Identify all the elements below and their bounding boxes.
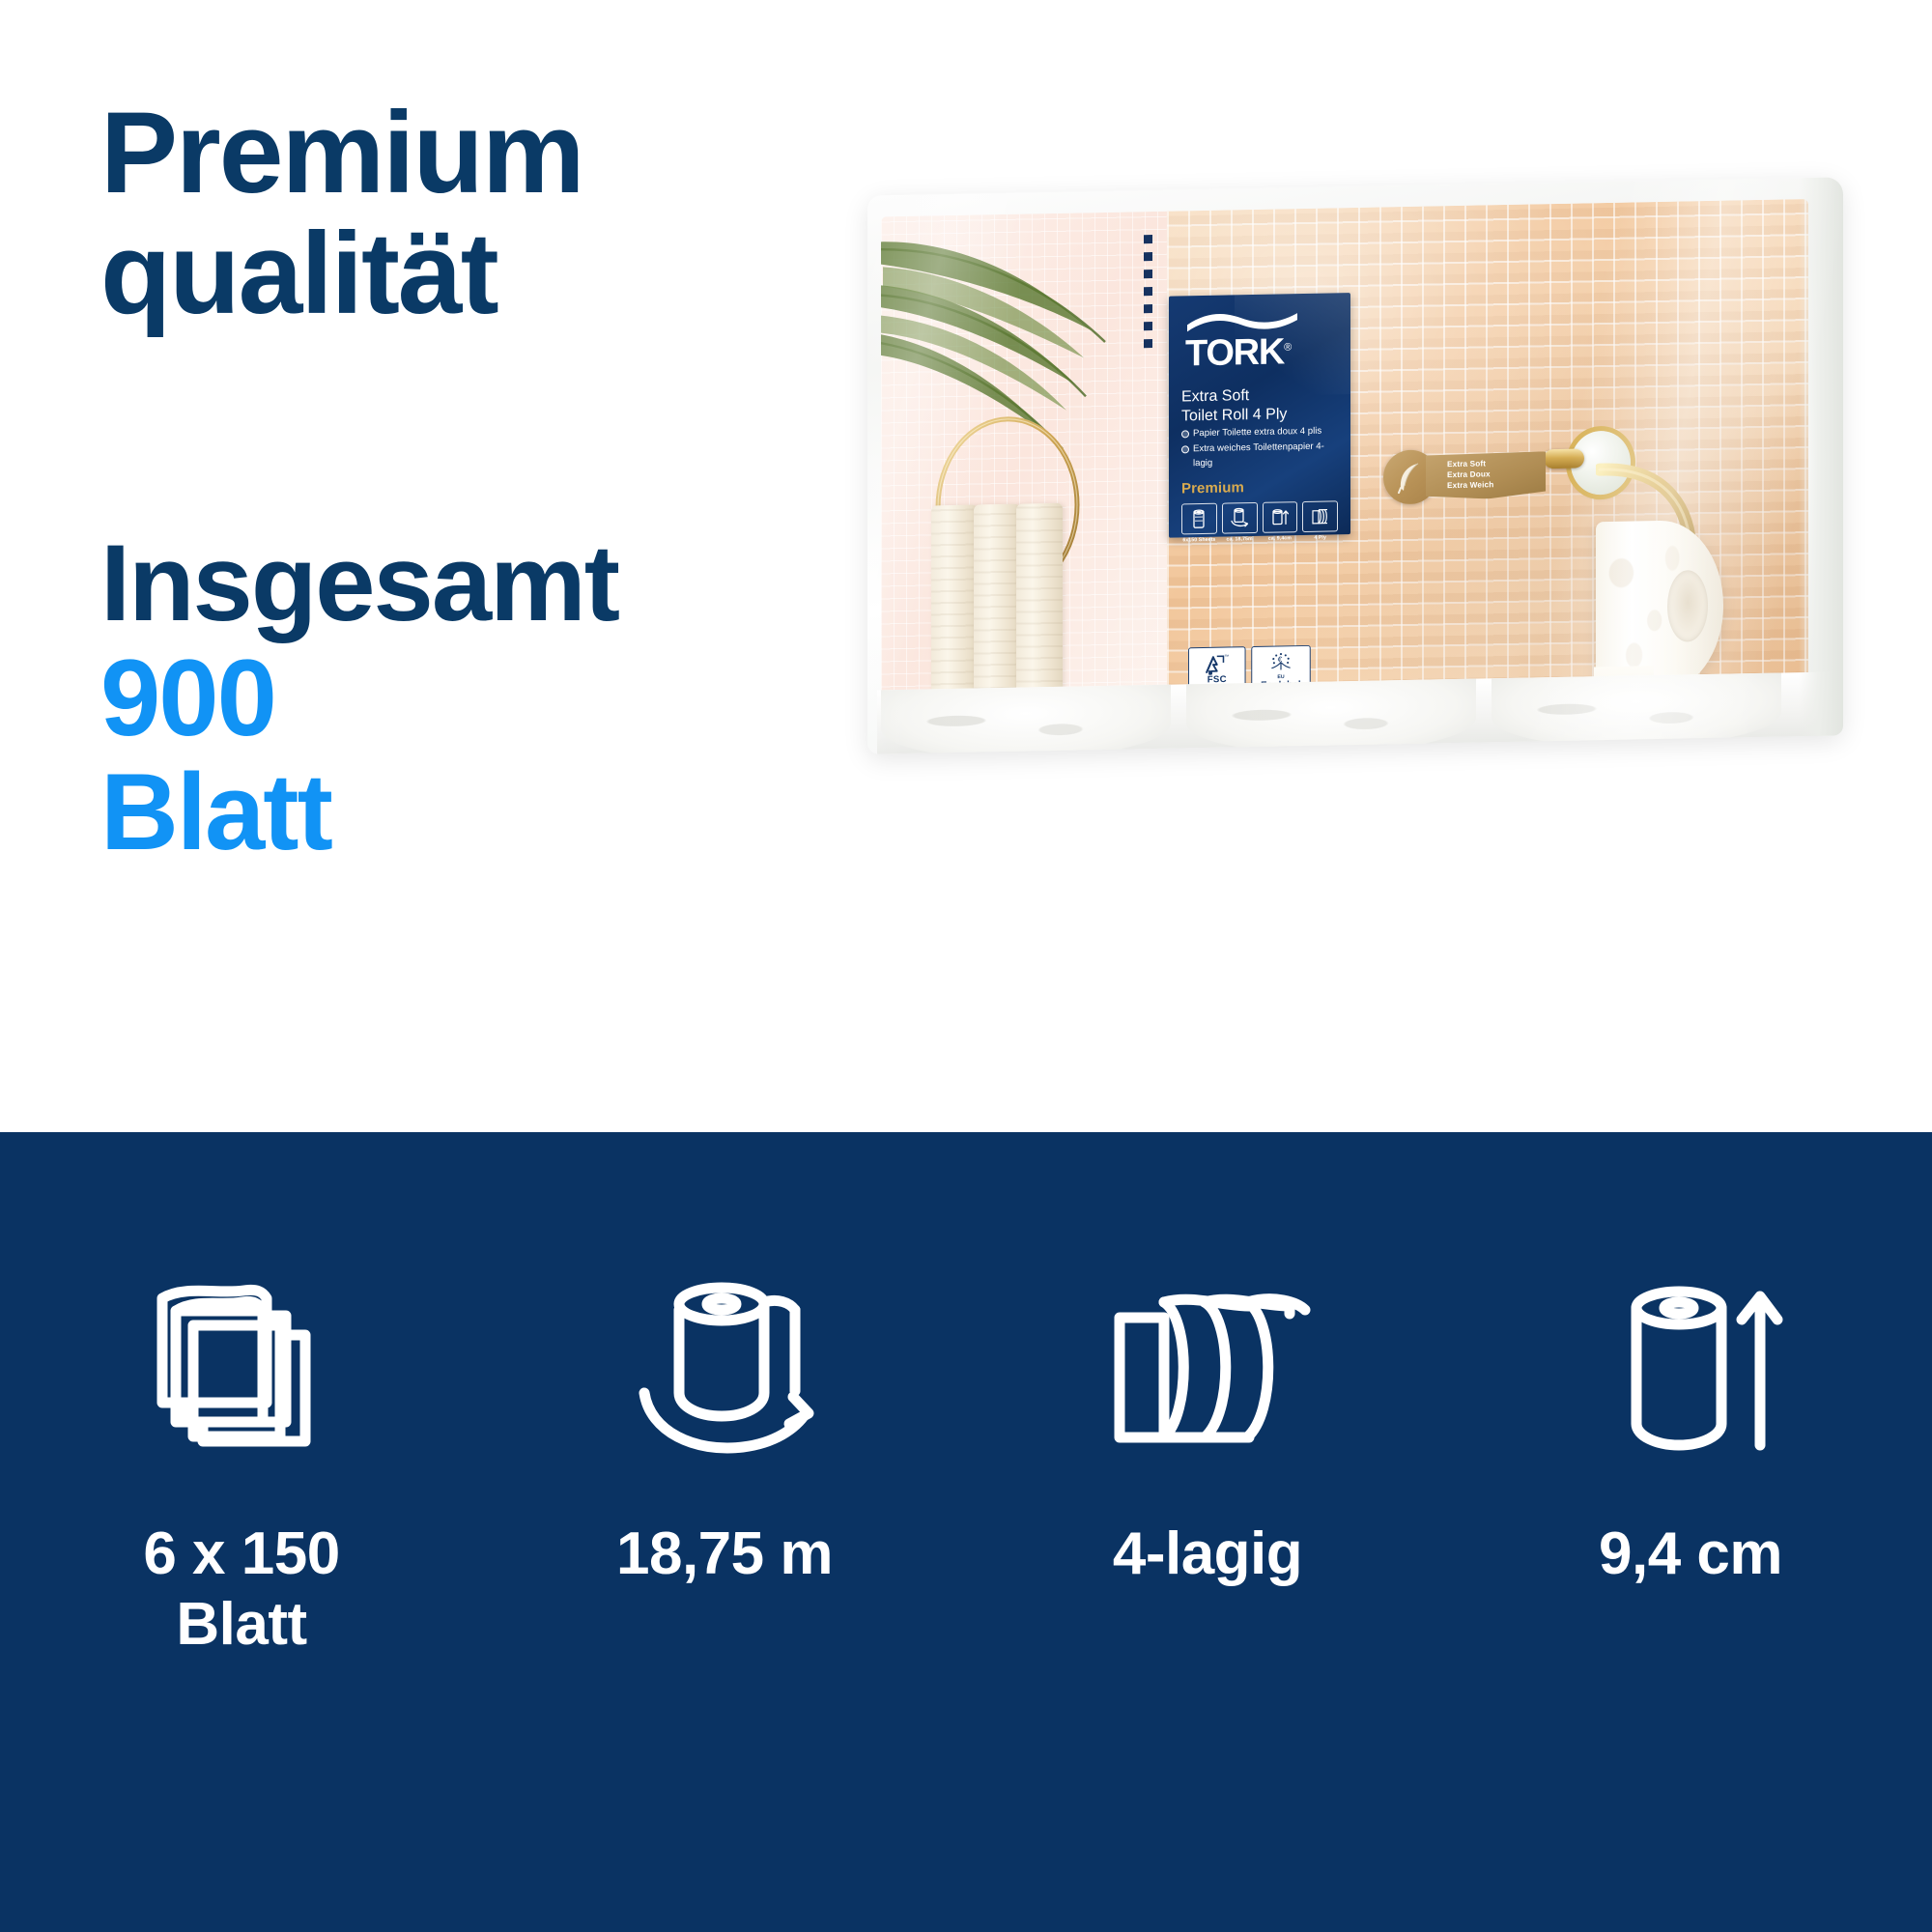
- eu-ecolabel-flower-icon: €: [1257, 650, 1305, 675]
- feature-label-plies: 4-lagig: [1113, 1519, 1302, 1589]
- headline-secondary-block: Insgesamt 900 Blatt: [100, 526, 873, 870]
- tork-tier-premium: Premium: [1181, 478, 1338, 497]
- feature-label-length: 18,75 m: [616, 1519, 833, 1589]
- soft-tag-line-de: Extra Weich: [1447, 479, 1546, 492]
- package-right-edge: [1799, 177, 1843, 736]
- product-package-photo: Extra Soft Extra Doux Extra Weich: [850, 179, 1874, 758]
- tork-bullet-de-text: Extra weiches Toilettenpapier 4-lagig: [1193, 440, 1338, 471]
- tork-bullet-fr: Papier Toilette extra doux 4 plis: [1181, 424, 1338, 441]
- headline-line-900: 900: [100, 641, 873, 756]
- wrapped-roll: [1186, 675, 1476, 754]
- headline-line-premium: Premium: [100, 93, 835, 213]
- bullet-dot-icon: [1181, 446, 1189, 454]
- headline-line-blatt: Blatt: [100, 755, 873, 870]
- tork-spec-caption: ca. 9,4cm: [1263, 535, 1298, 542]
- roll-height-arrow-icon: [1263, 501, 1298, 533]
- bullet-dot-icon: [1181, 430, 1189, 438]
- four-ply-layers-icon: [1104, 1267, 1312, 1470]
- tork-brand-text: TORK: [1185, 331, 1284, 374]
- wrapped-roll: [1492, 672, 1781, 751]
- product-feature-panel: Premium qualität Insgesamt 900 Blatt: [0, 0, 1932, 1932]
- svg-text:™: ™: [1224, 654, 1229, 660]
- extra-soft-banner: Extra Soft Extra Doux Extra Weich: [1426, 451, 1546, 499]
- plies-stack-icon: [1302, 501, 1338, 533]
- headline-line-qualitaet: qualität: [100, 213, 835, 334]
- top-white-section: Premium qualität Insgesamt 900 Blatt: [0, 0, 1932, 1132]
- roll-length-icon: [623, 1267, 826, 1470]
- tork-spec-length: ca. 18,75m: [1222, 502, 1258, 543]
- feature-sheets: 6 x 150 Blatt: [0, 1267, 483, 1660]
- holder-knob: [1544, 448, 1584, 469]
- sheet-stack-icon: [145, 1267, 338, 1470]
- roll-core: [1667, 570, 1708, 642]
- tork-spec-caption: ca. 18,75m: [1222, 536, 1258, 543]
- feature-icon-row: 6 x 150 Blatt: [0, 1267, 1932, 1660]
- tork-spec-caption: 4 Ply: [1302, 535, 1338, 542]
- roll-length-arrow-icon: [1222, 502, 1258, 534]
- tork-product-name-line2: Toilet Roll 4 Ply: [1181, 404, 1338, 426]
- tear-strip: [1144, 235, 1159, 349]
- feature-label-height: 9,4 cm: [1599, 1519, 1782, 1589]
- feature-height: 9,4 cm: [1449, 1267, 1932, 1589]
- feature-label-sheets: 6 x 150 Blatt: [143, 1519, 339, 1660]
- tork-bullet-de: Extra weiches Toilettenpapier 4-lagig: [1181, 440, 1338, 471]
- bottom-navy-section: 6 x 150 Blatt: [0, 1132, 1932, 1932]
- tork-product-label: TORK® Extra Soft Toilet Roll 4 Ply Papie…: [1169, 293, 1350, 538]
- towel: [1016, 503, 1063, 695]
- headline-line-insgesamt: Insgesamt: [100, 526, 873, 641]
- toilet-paper-roll: [1596, 520, 1723, 695]
- towel: [974, 504, 1020, 700]
- toilet-roll-sheets-icon: [1181, 503, 1217, 535]
- tork-registered-mark: ®: [1284, 342, 1292, 354]
- package-printed-face: Extra Soft Extra Doux Extra Weich: [881, 199, 1808, 699]
- tork-spec-ply: 4 Ply: [1302, 501, 1338, 542]
- hanging-towels: [931, 502, 1095, 699]
- plastic-wrap: Extra Soft Extra Doux Extra Weich: [867, 177, 1843, 753]
- fsc-tree-icon: ™: [1194, 651, 1240, 676]
- extra-soft-hang-tag: Extra Soft Extra Doux Extra Weich: [1383, 443, 1546, 506]
- tork-spec-sheets: 6x150 Sheets: [1181, 503, 1217, 544]
- tork-spec-caption: 6x150 Sheets: [1181, 537, 1217, 544]
- feature-length: 18,75 m: [483, 1267, 966, 1589]
- feature-plies: 4-lagig: [966, 1267, 1449, 1589]
- headline-primary-block: Premium qualität: [100, 93, 835, 334]
- towel: [931, 505, 978, 697]
- tork-bullet-fr-text: Papier Toilette extra doux 4 plis: [1193, 425, 1321, 441]
- roll-height-icon: [1594, 1267, 1787, 1470]
- tork-spec-row: 6x150 Sheets: [1181, 501, 1338, 544]
- tork-wordmark: TORK®: [1185, 332, 1338, 372]
- wrapped-roll: [881, 681, 1171, 754]
- tork-spec-height: ca. 9,4cm: [1263, 501, 1298, 542]
